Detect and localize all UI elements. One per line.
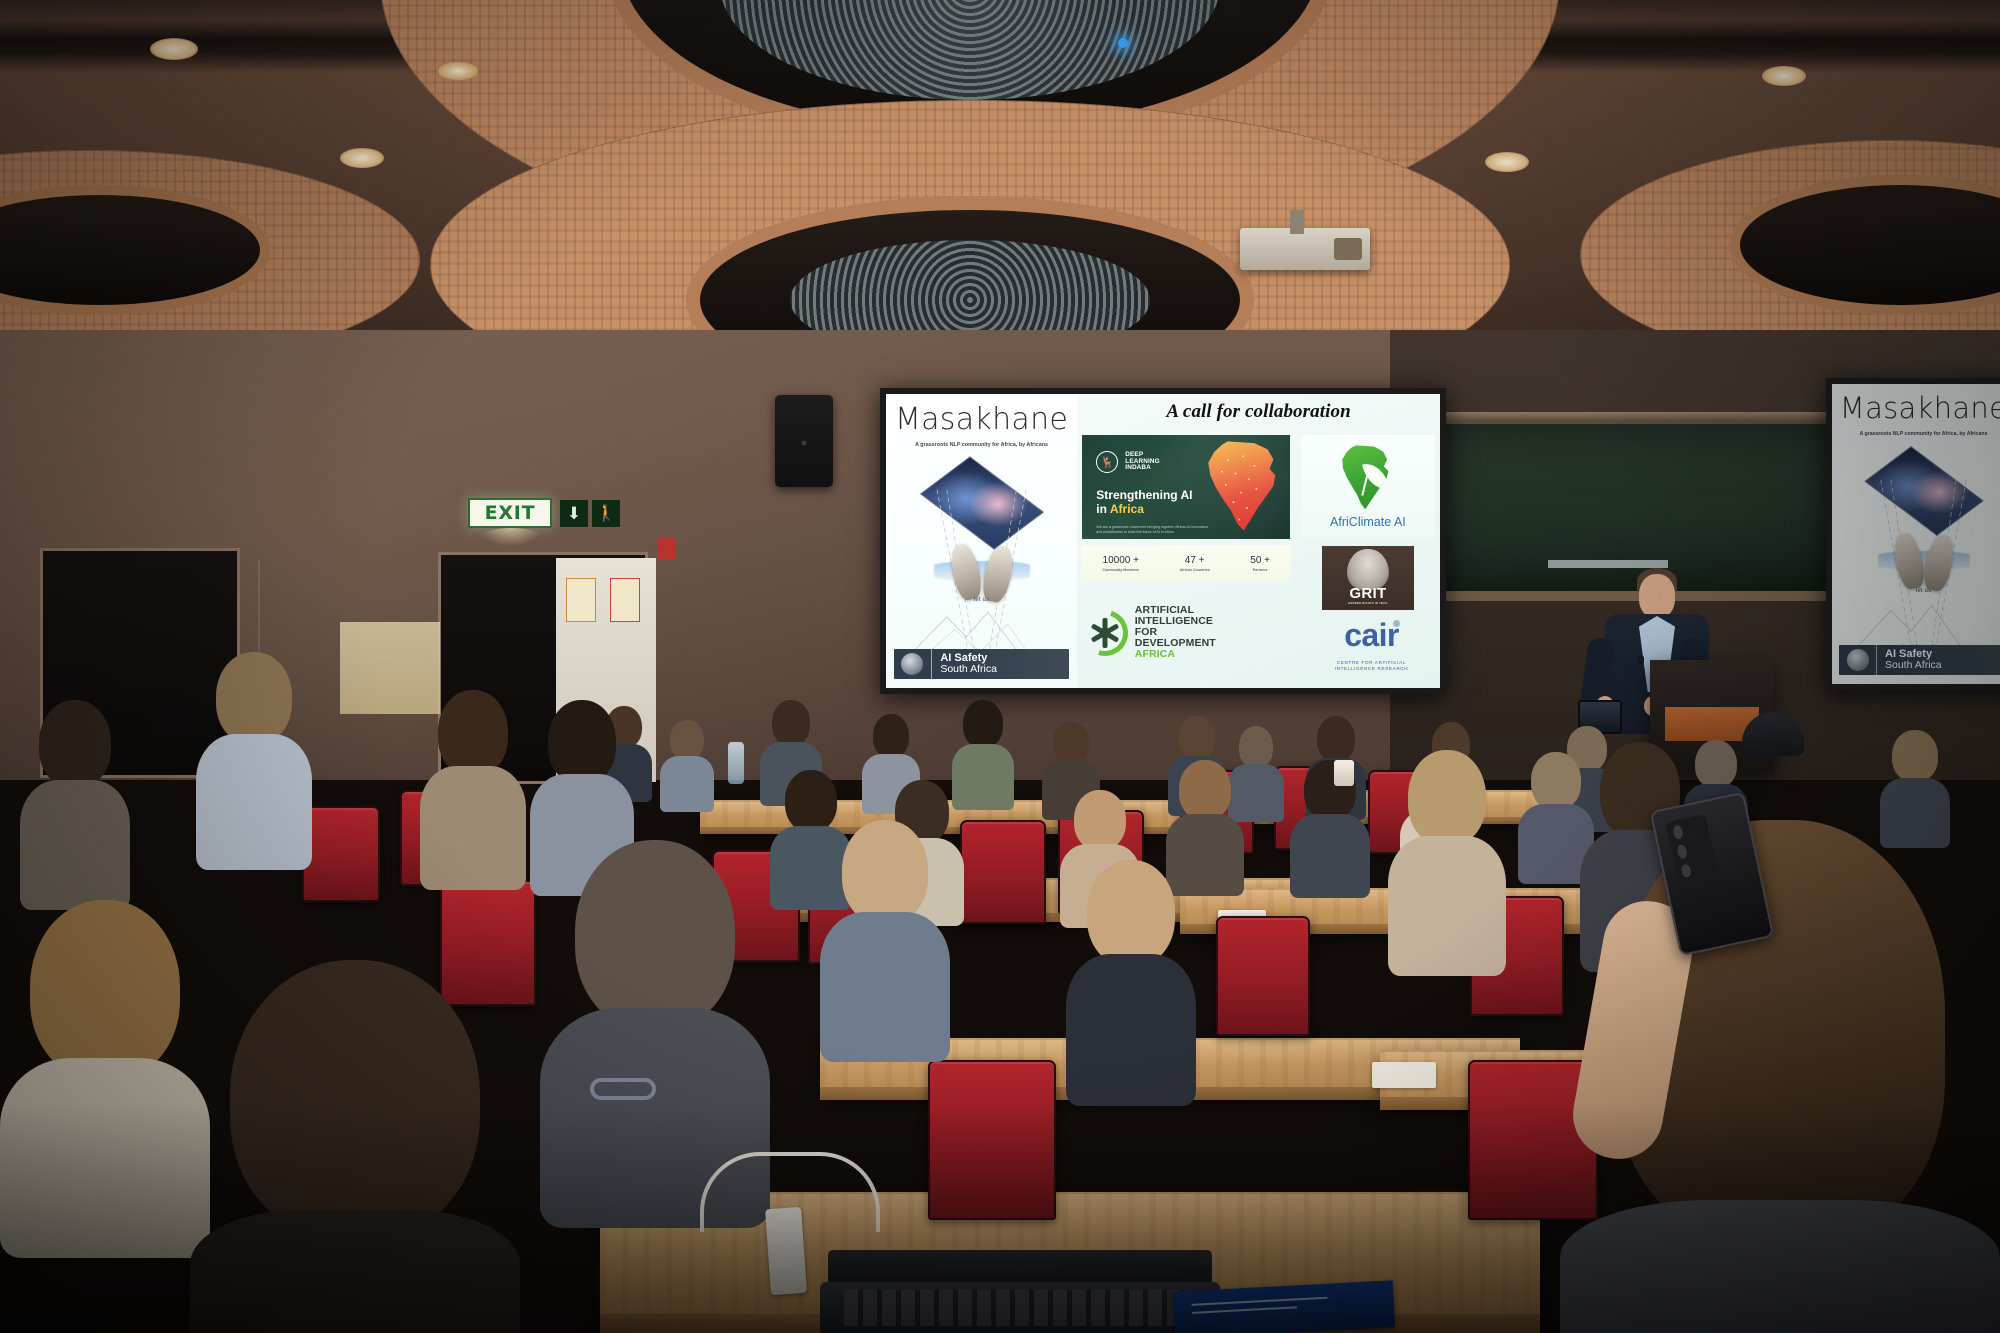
laptop-keyboard[interactable] [844, 1290, 1196, 1326]
wall-speaker [775, 395, 833, 487]
africlimate-ai-logo: AfriClimate AI [1301, 435, 1435, 539]
stat-label: African Countries [1180, 568, 1210, 572]
cair-wordmark: cair [1344, 617, 1398, 653]
logo-divider [931, 649, 932, 679]
audience-member [820, 820, 950, 1050]
audience-member [196, 652, 312, 862]
exit-sign-label: EXIT [485, 502, 536, 524]
secondary-hands-icon [1890, 533, 1958, 573]
audience-member [1290, 760, 1370, 890]
grit-tagline: GENDER RIGHTS IN TECH [1348, 602, 1387, 605]
ai4d-africa-logo: ARTIFICIAL INTELLIGENCE FOR DEVELOPMENT … [1082, 588, 1301, 677]
lecture-hall-photo: EXIT ⬇ 🚶 Masakhane A grassroots NLP comm… [0, 0, 2000, 1333]
grit-logo: GRIT GENDER RIGHTS IN TECH [1322, 546, 1414, 610]
africlimate-label: AfriClimate AI [1330, 515, 1406, 529]
exit-sign-glow [480, 528, 542, 546]
projector-lens [1334, 238, 1363, 260]
audience-member-foreground [540, 840, 770, 1200]
cair-dot-icon [1393, 620, 1400, 627]
speaker-cone-icon [802, 440, 807, 445]
indaba-heading-2-prefix: in [1096, 502, 1110, 516]
downlight-2 [340, 148, 384, 168]
africa-leaf-icon [1336, 445, 1400, 509]
stat-item: 50 + Partners [1250, 555, 1270, 572]
cair-logo: cair CENTRE FOR ARTIFICIAL INTELLIGENCE … [1315, 617, 1428, 672]
projection-screen-main: Masakhane A grassroots NLP community for… [880, 388, 1446, 694]
slide-masakhane-panel: Masakhane A grassroots NLP community for… [886, 394, 1077, 688]
slide-logo-grid: 🦌 DEEP LEARNING INDABA Strengthening AI … [1082, 435, 1435, 682]
fire-extinguisher-sign [658, 538, 676, 560]
ai-safety-logo: AI Safety South Africa [894, 649, 1070, 679]
hands-icon [947, 544, 1017, 584]
ceiling-projector [1240, 228, 1370, 270]
stat-value: 47 + [1180, 555, 1210, 566]
deep-learning-indaba-card: 🦌 DEEP LEARNING INDABA Strengthening AI … [1082, 435, 1290, 539]
secondary-masakhane-title: Masakhane [1840, 391, 2000, 425]
stat-item: 47 + African Countries [1180, 555, 1210, 572]
stat-label: Partners [1250, 568, 1270, 572]
audience-member-foreground [0, 900, 210, 1240]
name-card-2 [1372, 1062, 1436, 1088]
slide-secondary: Masakhane A grassroots NLP community for… [1832, 384, 2000, 684]
downlight-4 [1762, 66, 1806, 86]
seat[interactable] [928, 1060, 1056, 1220]
ai-safety-line2: South Africa [940, 664, 997, 675]
indaba-brand-line3: INDABA [1125, 465, 1159, 472]
ai4d-mark-icon [1082, 610, 1128, 656]
slide-headline: A call for collaboration [1085, 401, 1432, 423]
seat[interactable] [960, 820, 1046, 924]
audience-member [660, 720, 714, 806]
presenter-head [1639, 574, 1675, 618]
secondary-ai-safety-line2: South Africa [1885, 660, 1942, 671]
indaba-stats-row: 10000 + Community Members 47 + African C… [1082, 546, 1290, 581]
seat[interactable] [1216, 916, 1310, 1036]
water-bottle [728, 742, 744, 784]
grit-figure-icon [1347, 549, 1389, 590]
eyeglasses-icon [590, 1078, 656, 1100]
ai4d-line5: AFRICA [1135, 649, 1216, 660]
ceiling-led-indicator [1118, 38, 1128, 48]
projection-strip [1548, 560, 1668, 568]
audience-member [1066, 860, 1196, 1096]
stat-value: 50 + [1250, 555, 1270, 566]
indaba-body: We are a grassroots movement bringing to… [1096, 525, 1211, 535]
exit-sign: EXIT [468, 498, 552, 528]
audience-member [420, 690, 526, 880]
secondary-ostrich-head-icon [1847, 649, 1869, 671]
projector-mount [1290, 210, 1304, 234]
seat[interactable] [302, 806, 380, 902]
indaba-heading-2-accent: Africa [1110, 502, 1144, 516]
laptop[interactable] [820, 1250, 1220, 1333]
downlight-5 [438, 62, 478, 80]
presenter-lapel-mic-icon [1638, 656, 1644, 664]
grit-wordmark: GRIT [1349, 585, 1386, 602]
secondary-ai-safety-logo: AI Safety South Africa [1839, 645, 2000, 675]
ostrich-head-icon [901, 653, 923, 675]
laptop-base [820, 1282, 1220, 1333]
indaba-animal-icon: 🦌 [1096, 451, 1118, 473]
coffee-cup [1334, 760, 1354, 786]
exit-down-arrow-icon: ⬇ [560, 500, 588, 527]
audience-member [1388, 750, 1506, 964]
stat-value: 10000 + [1102, 555, 1139, 566]
stat-item: 10000 + Community Members [1102, 555, 1139, 572]
downlight-3 [1485, 152, 1529, 172]
downlight-1 [150, 38, 198, 60]
audience-member [20, 700, 130, 900]
door-notice-2 [610, 578, 640, 622]
cair-subtitle-2: INTELLIGENCE RESEARCH [1335, 666, 1409, 672]
door-notice-1 [566, 578, 596, 622]
masakhane-title: Masakhane [895, 402, 1068, 437]
slide-collaboration-panel: A call for collaboration [1077, 394, 1440, 688]
phone-camera-module-icon [1665, 814, 1718, 887]
audience-member-foreground [190, 960, 520, 1333]
ceiling [0, 0, 2000, 330]
projection-screen-secondary: Masakhane A grassroots NLP community for… [1826, 378, 2000, 690]
power-adapter[interactable] [765, 1207, 807, 1295]
running-person-icon: 🚶 [592, 500, 620, 527]
secondary-masakhane-panel: Masakhane A grassroots NLP community for… [1832, 384, 2000, 684]
slide-main: Masakhane A grassroots NLP community for… [886, 394, 1440, 688]
stat-label: Community Members [1102, 568, 1139, 572]
